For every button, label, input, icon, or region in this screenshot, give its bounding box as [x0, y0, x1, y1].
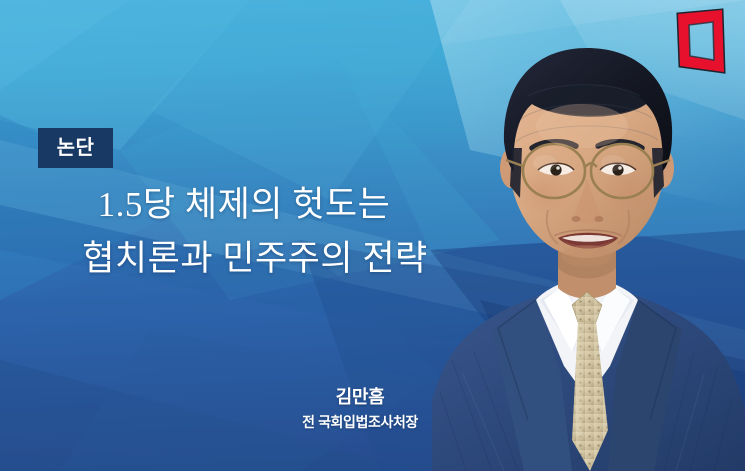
category-badge[interactable]: 논단 — [38, 128, 113, 168]
byline: 김만흠 전 국회입법조사처장 — [252, 386, 468, 431]
page-title-line-1: 1.5당 체제의 헛도는 — [44, 178, 444, 232]
red-square-outline-logo — [672, 8, 728, 80]
page-title: 1.5당 체제의 헛도는 협치론과 민주주의 전략 — [44, 178, 444, 287]
article-thumbnail-card: 논단 1.5당 체제의 헛도는 협치론과 민주주의 전략 김만흠 전 국회입법조… — [0, 0, 745, 471]
author-role: 전 국회입법조사처장 — [252, 414, 468, 432]
author-name: 김만흠 — [252, 386, 468, 409]
page-title-line-2: 협치론과 민주주의 전략 — [66, 232, 444, 286]
category-badge-label: 논단 — [57, 138, 95, 158]
